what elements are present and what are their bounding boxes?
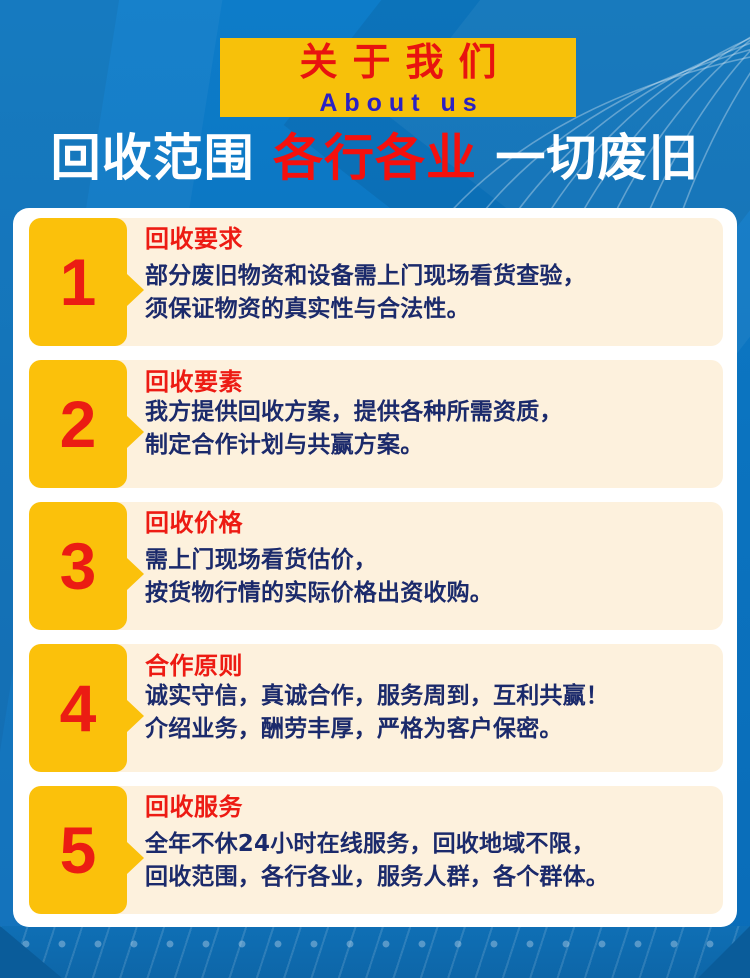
card-item: 1 回收要求 部分废旧物资和设备需上门现场看货查验， 须保证物资的真实性与合法性… (29, 218, 723, 346)
card-line: 介绍业务，酬劳丰厚，严格为客户保密。 (145, 713, 711, 746)
card-line: 需上门现场看货估价， (145, 544, 711, 577)
card-number-badge: 3 (29, 502, 127, 630)
card-text: 回收要素 我方提供回收方案，提供各种所需资质， 制定合作计划与共赢方案。 (145, 370, 711, 482)
card-item: 4 合作原则 诚实守信，真诚合作，服务周到，互利共赢！ 介绍业务，酬劳丰厚，严格… (29, 644, 723, 772)
bottom-band (0, 926, 750, 978)
card-line: 诚实守信，真诚合作，服务周到，互利共赢！ (145, 680, 711, 713)
card-title: 回收服务 (145, 792, 711, 822)
card-number: 1 (29, 249, 127, 315)
content-panel: 1 回收要求 部分废旧物资和设备需上门现场看货查验， 须保证物资的真实性与合法性… (13, 208, 737, 927)
card-number: 2 (29, 391, 127, 457)
arrow-right-icon (127, 416, 144, 448)
headline-part-3: 一切废旧 (495, 129, 699, 187)
about-us-banner: 关于我们 About us (220, 38, 576, 117)
card-line: 我方提供回收方案，提供各种所需资质， (145, 396, 711, 429)
arrow-right-icon (127, 700, 144, 732)
card-item: 5 回收服务 全年不休24小时在线服务，回收地域不限， 回收范围，各行各业，服务… (29, 786, 723, 914)
card-number: 3 (29, 533, 127, 599)
arrow-right-icon (127, 842, 144, 874)
band-corner-right (698, 926, 750, 978)
card-title: 回收要求 (145, 224, 711, 254)
card-text: 回收价格 需上门现场看货估价， 按货物行情的实际价格出资收购。 (145, 508, 711, 624)
headline-part-2: 各行各业 (273, 129, 477, 187)
card-list: 1 回收要求 部分废旧物资和设备需上门现场看货查验， 须保证物资的真实性与合法性… (13, 208, 737, 927)
card-line: 制定合作计划与共赢方案。 (145, 429, 711, 462)
card-number-badge: 2 (29, 360, 127, 488)
card-text: 合作原则 诚实守信，真诚合作，服务周到，互利共赢！ 介绍业务，酬劳丰厚，严格为客… (145, 654, 711, 766)
headline-space-2 (477, 129, 495, 187)
card-text: 回收服务 全年不休24小时在线服务，回收地域不限， 回收范围，各行各业，服务人群… (145, 792, 711, 908)
card-number-badge: 5 (29, 786, 127, 914)
card-number: 4 (29, 675, 127, 741)
card-title: 合作原则 (145, 654, 711, 679)
card-item: 2 回收要素 我方提供回收方案，提供各种所需资质， 制定合作计划与共赢方案。 (29, 360, 723, 488)
headline-part-1: 回收范围 (51, 129, 255, 187)
card-line: 全年不休24小时在线服务，回收地域不限， (145, 828, 711, 861)
band-stripe-texture (0, 926, 750, 978)
page-headline: 回收范围 各行各业 一切废旧 (0, 129, 750, 188)
card-item: 3 回收价格 需上门现场看货估价， 按货物行情的实际价格出资收购。 (29, 502, 723, 630)
card-line: 按货物行情的实际价格出资收购。 (145, 577, 711, 610)
about-us-poster: 关于我们 About us 回收范围 各行各业 一切废旧 1 回收要求 部分废旧… (0, 0, 750, 978)
card-number-badge: 4 (29, 644, 127, 772)
card-number-badge: 1 (29, 218, 127, 346)
banner-title-chinese: 关于我们 (220, 42, 576, 84)
card-title: 回收价格 (145, 508, 711, 538)
card-line: 回收范围，各行各业，服务人群，各个群体。 (145, 861, 711, 894)
card-number: 5 (29, 817, 127, 883)
arrow-right-icon (127, 274, 144, 306)
card-line: 须保证物资的真实性与合法性。 (145, 293, 711, 326)
headline-space-1 (255, 129, 273, 187)
card-line: 部分废旧物资和设备需上门现场看货查验， (145, 260, 711, 293)
arrow-right-icon (127, 558, 144, 590)
banner-title-english: About us (220, 89, 576, 117)
band-dot-texture (0, 937, 750, 951)
card-text: 回收要求 部分废旧物资和设备需上门现场看货查验， 须保证物资的真实性与合法性。 (145, 224, 711, 340)
card-title: 回收要素 (145, 370, 711, 395)
band-corner-left (0, 926, 62, 978)
